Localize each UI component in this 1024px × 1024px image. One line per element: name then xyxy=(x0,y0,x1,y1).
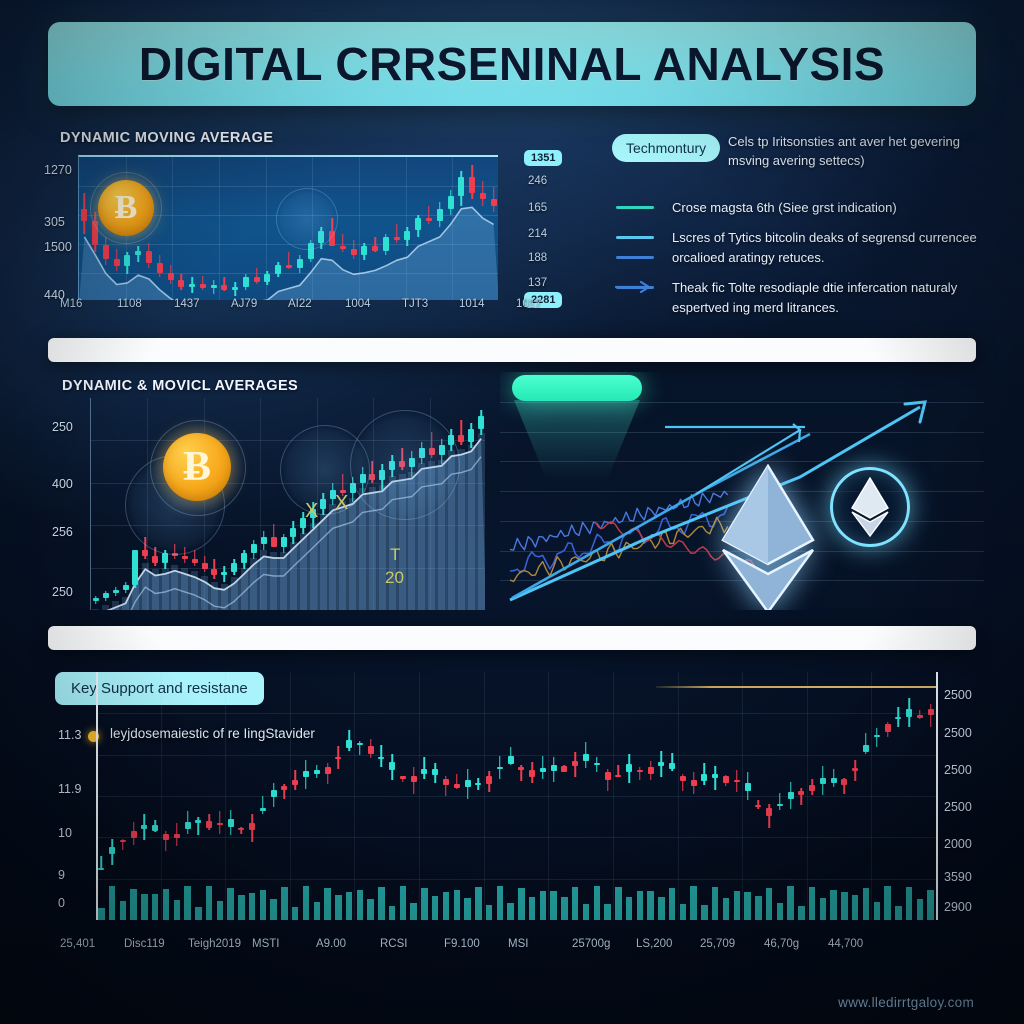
volume-bar xyxy=(410,903,416,920)
candle-body xyxy=(163,834,169,839)
candle-body xyxy=(243,277,249,286)
panel4-right-label: 2500 xyxy=(944,688,972,702)
volume-bar xyxy=(615,887,621,920)
candlestick xyxy=(480,157,486,300)
candle-body xyxy=(131,831,137,838)
panel2-annotation: X xyxy=(335,492,348,515)
candle-body xyxy=(437,209,443,221)
panel4-right-label: 2500 xyxy=(944,763,972,777)
gridline-h xyxy=(91,568,485,569)
panel4-x-label: F9.100 xyxy=(444,938,480,950)
legend-headline: Cels tp Iritsonsties ant aver het geveri… xyxy=(728,132,984,170)
candlestick xyxy=(448,398,454,610)
candle-body xyxy=(841,779,847,786)
candlestick xyxy=(478,398,484,610)
candlestick xyxy=(404,157,410,300)
candle-body xyxy=(820,778,826,784)
candlestick xyxy=(231,398,237,610)
candlestick xyxy=(238,672,244,920)
volume-bar xyxy=(335,895,341,920)
volume-bar xyxy=(367,899,373,920)
panel4-x-label: Teigh2019 xyxy=(188,938,241,950)
volume-bar xyxy=(874,902,880,920)
volume-bar xyxy=(637,891,643,920)
panel4-x-label: MSTI xyxy=(252,938,279,950)
volume-bar xyxy=(109,886,115,920)
candle-body xyxy=(723,776,729,783)
legend-arrow-icon xyxy=(614,280,658,294)
candlestick xyxy=(691,672,697,920)
candle-body xyxy=(368,746,374,754)
volume-bar xyxy=(550,891,556,920)
gridline-v xyxy=(742,672,743,920)
candlestick xyxy=(475,672,481,920)
gridline-v xyxy=(678,672,679,920)
candlestick xyxy=(852,672,858,920)
volume-bar xyxy=(787,886,793,920)
candlestick xyxy=(98,672,104,920)
candle-body xyxy=(141,825,147,829)
candle-body xyxy=(443,779,449,786)
candle-body xyxy=(325,767,331,774)
candle-body xyxy=(669,763,675,770)
right-axis-line xyxy=(936,672,938,920)
panel1-right-label: 137 xyxy=(528,277,547,289)
volume-bar xyxy=(830,890,836,920)
gridline-v xyxy=(359,157,360,300)
candle-body xyxy=(874,735,880,737)
gridline-v xyxy=(225,672,226,920)
candle-body xyxy=(885,724,891,732)
candlestick xyxy=(755,672,761,920)
candle-body xyxy=(480,193,486,199)
volume-bar xyxy=(454,890,460,920)
panel2-title: DYNAMIC & MOVICL AVERAGES xyxy=(62,378,298,394)
candlestick xyxy=(917,672,923,920)
volume-bar xyxy=(270,899,276,920)
candle-body xyxy=(185,822,191,829)
volume-bar xyxy=(755,896,761,920)
gridline-v xyxy=(807,672,808,920)
bitcoin-coin-icon: Ƀ xyxy=(98,180,154,236)
candle-body xyxy=(195,820,201,823)
candle-body xyxy=(271,790,277,797)
candlestick xyxy=(281,672,287,920)
candlestick xyxy=(81,157,87,300)
panel4-x-label: 44,700 xyxy=(828,938,863,950)
panel4-y-label: 9 xyxy=(58,868,65,882)
candle-body xyxy=(478,416,484,429)
candlestick xyxy=(361,157,367,300)
candle-body xyxy=(831,778,837,783)
candlestick xyxy=(551,672,557,920)
panel4-right-label: 2000 xyxy=(944,837,972,851)
volume-bar xyxy=(895,906,901,920)
candle-body xyxy=(626,764,632,772)
candle-wick xyxy=(194,550,196,566)
candlestick xyxy=(185,672,191,920)
panel4-right-label: 2900 xyxy=(944,900,972,914)
panel1-right-label: 165 xyxy=(528,202,547,214)
candlestick xyxy=(264,157,270,300)
volume-bar xyxy=(734,891,740,920)
candle-wick xyxy=(428,206,430,225)
candle-body xyxy=(658,762,664,765)
volume-bar xyxy=(518,888,524,920)
candlestick xyxy=(561,672,567,920)
panel4-y-label: 0 xyxy=(58,896,65,910)
panel4-y-label: 11.9 xyxy=(58,782,81,796)
candlestick xyxy=(271,398,277,610)
candlestick xyxy=(281,398,287,610)
candlestick xyxy=(454,672,460,920)
candlestick xyxy=(885,672,891,920)
candle-body xyxy=(254,277,260,282)
candlestick xyxy=(357,672,363,920)
volume-bar xyxy=(227,888,233,920)
gridline-v xyxy=(354,672,355,920)
candlestick xyxy=(572,672,578,920)
candlestick xyxy=(831,672,837,920)
candlestick xyxy=(163,672,169,920)
candlestick xyxy=(458,398,464,610)
candlestick xyxy=(261,398,267,610)
gridline-v xyxy=(219,157,220,300)
candle-body xyxy=(766,808,772,816)
candle-body xyxy=(281,786,287,791)
volume-bar xyxy=(766,888,772,920)
candle-wick xyxy=(930,704,932,727)
volume-bar xyxy=(389,906,395,920)
volume-bar xyxy=(507,903,513,920)
candle-wick xyxy=(396,224,398,243)
candle-body xyxy=(264,274,270,282)
candlestick xyxy=(400,672,406,920)
panel4-x-label: Disc119 xyxy=(124,938,165,950)
candle-body xyxy=(415,218,421,230)
panel1-y-label: 305 xyxy=(44,215,65,229)
candlestick xyxy=(314,672,320,920)
volume-bar xyxy=(281,887,287,920)
candlestick xyxy=(389,672,395,920)
candlestick xyxy=(928,672,934,920)
candle-body xyxy=(103,245,109,259)
panel1-x-label: 1017 xyxy=(516,298,542,310)
panel2-y-label: 256 xyxy=(52,525,73,539)
volume-bar xyxy=(174,900,180,920)
candle-body xyxy=(468,429,474,442)
candle-body xyxy=(906,709,912,717)
panel1-x-label: AJ79 xyxy=(231,298,257,310)
candle-body xyxy=(852,768,858,771)
candle-body xyxy=(109,847,115,855)
candle-wick xyxy=(876,728,878,748)
volume-bar xyxy=(594,886,600,920)
candle-body xyxy=(124,255,130,266)
panel1-right-label: 246 xyxy=(528,175,547,187)
volume-bar xyxy=(324,888,330,920)
candle-body xyxy=(113,590,119,593)
candle-body xyxy=(238,828,244,830)
volume-bar xyxy=(141,894,147,920)
candlestick xyxy=(432,672,438,920)
volume-bar xyxy=(378,887,384,920)
candlestick xyxy=(228,672,234,920)
candle-body xyxy=(346,740,352,748)
candlestick xyxy=(141,672,147,920)
candle-body xyxy=(448,196,454,208)
volume-bar xyxy=(130,889,136,920)
candle-body xyxy=(491,199,497,205)
candlestick xyxy=(351,157,357,300)
volume-bar xyxy=(647,891,653,920)
candle-body xyxy=(351,249,357,255)
candle-body xyxy=(93,598,99,601)
candle-body xyxy=(454,784,460,787)
candlestick xyxy=(109,672,115,920)
candle-body xyxy=(303,771,309,777)
candle-body xyxy=(648,767,654,774)
volume-bar xyxy=(184,886,190,920)
gridline-v xyxy=(871,672,872,920)
bitcoin-coin-icon: Ƀ xyxy=(163,433,231,501)
candle-body xyxy=(777,804,783,806)
candle-body xyxy=(788,792,794,799)
candle-body xyxy=(734,780,740,782)
candle-body xyxy=(389,762,395,769)
volume-bar xyxy=(400,886,406,920)
candle-body xyxy=(809,785,815,791)
candle-body xyxy=(551,765,557,771)
candlestick xyxy=(243,157,249,300)
volume-bar xyxy=(217,901,223,920)
volume-bar xyxy=(583,904,589,920)
volume-bar xyxy=(120,901,126,920)
candlestick xyxy=(152,672,158,920)
candlestick xyxy=(325,672,331,920)
candle-body xyxy=(232,287,238,290)
panel2-y-label: 250 xyxy=(52,585,73,599)
volume-bar xyxy=(421,888,427,920)
candlestick xyxy=(217,672,223,920)
candlestick xyxy=(469,157,475,300)
candle-body xyxy=(701,774,707,780)
volume-bar xyxy=(852,895,858,920)
candlestick xyxy=(211,157,217,300)
candlestick xyxy=(340,157,346,300)
candlestick xyxy=(411,672,417,920)
volume-bar xyxy=(486,905,492,920)
candle-body xyxy=(146,251,152,263)
candle-body xyxy=(394,237,400,240)
candlestick xyxy=(766,672,772,920)
candle-body xyxy=(361,246,367,255)
candlestick xyxy=(701,672,707,920)
candle-body xyxy=(572,761,578,765)
y-axis-line xyxy=(96,672,98,920)
candlestick xyxy=(378,672,384,920)
panel4-y-label: 10 xyxy=(58,826,72,840)
candlestick xyxy=(103,398,109,610)
candle-body xyxy=(583,754,589,761)
volume-bar xyxy=(723,898,729,920)
candlestick xyxy=(906,672,912,920)
candle-body xyxy=(286,265,292,268)
candle-body xyxy=(411,776,417,782)
legend-marker-1b xyxy=(616,256,654,259)
poster-title-bar: DIGITAL CRRSENINAL ANALYSIS xyxy=(48,22,976,106)
gridline-v xyxy=(419,672,420,920)
panel1-x-label: 1004 xyxy=(345,298,371,310)
volume-bar xyxy=(346,892,352,920)
candle-body xyxy=(680,776,686,781)
panel1-x-label: AI22 xyxy=(288,298,312,310)
candle-body xyxy=(290,528,296,538)
candle-body xyxy=(178,280,184,286)
volume-bar xyxy=(626,897,632,920)
candle-body xyxy=(189,284,195,287)
candlestick xyxy=(637,672,643,920)
candlestick xyxy=(241,398,247,610)
panel1-title: DYNAMIC MOVING AVERAGE xyxy=(60,130,273,146)
candlestick xyxy=(372,157,378,300)
candlestick xyxy=(93,398,99,610)
legend-item-text: Theak fic Tolte resodiaple dtie infercat… xyxy=(672,278,984,318)
candlestick xyxy=(508,672,514,920)
highlight-halo xyxy=(350,410,460,520)
candlestick xyxy=(292,672,298,920)
candle-body xyxy=(518,767,524,770)
volume-bar xyxy=(260,890,266,920)
volume-bar xyxy=(841,892,847,920)
candle-body xyxy=(594,763,600,766)
candlestick xyxy=(458,157,464,300)
volume-bar xyxy=(432,896,438,920)
panel1-x-label: 1108 xyxy=(117,298,142,310)
ethereum-logo-icon xyxy=(718,464,818,610)
candle-body xyxy=(465,780,471,787)
volume-bar xyxy=(604,904,610,920)
candle-body xyxy=(103,593,109,598)
candle-body xyxy=(561,766,567,772)
panel1-y-label: 1270 xyxy=(44,163,72,177)
candlestick xyxy=(189,157,195,300)
candlestick xyxy=(712,672,718,920)
resistance-line xyxy=(656,686,936,688)
candle-body xyxy=(132,550,138,585)
candle-body xyxy=(152,825,158,831)
candle-body xyxy=(275,265,281,274)
panel4-right-label: 2500 xyxy=(944,800,972,814)
candlestick xyxy=(437,157,443,300)
candlestick xyxy=(863,672,869,920)
gridline-v xyxy=(484,672,485,920)
candle-body xyxy=(249,823,255,831)
section-divider-1 xyxy=(48,338,976,362)
volume-bar xyxy=(540,891,546,920)
candle-body xyxy=(182,556,188,559)
candlestick xyxy=(594,672,600,920)
volume-bar xyxy=(712,887,718,920)
volume-bar xyxy=(820,898,826,920)
candle-body xyxy=(540,768,546,772)
panel3-ethereum-trend[interactable] xyxy=(500,372,984,610)
candlestick xyxy=(615,672,621,920)
panel2-annotation: 20 xyxy=(385,568,404,588)
candle-body xyxy=(917,715,923,718)
candle-body xyxy=(221,572,227,575)
candlestick xyxy=(465,672,471,920)
volume-bar xyxy=(292,907,298,920)
candle-body xyxy=(260,808,266,811)
candlestick xyxy=(874,672,880,920)
panel1-right-highlight: 1351 xyxy=(524,150,562,166)
legend-badge[interactable]: Techmontury xyxy=(612,134,720,162)
volume-bar xyxy=(497,886,503,920)
panel1-x-label: M16 xyxy=(60,298,82,310)
candle-body xyxy=(928,709,934,716)
volume-bar xyxy=(701,905,707,920)
candle-body xyxy=(297,259,303,268)
section-divider-2 xyxy=(48,626,976,650)
volume-bar xyxy=(744,892,750,920)
candlestick xyxy=(254,157,260,300)
candle-body xyxy=(152,556,158,562)
panel2-annotation: T xyxy=(390,545,400,565)
candle-body xyxy=(251,544,257,554)
candlestick xyxy=(583,672,589,920)
volume-bar xyxy=(884,886,890,920)
candlestick xyxy=(895,672,901,920)
volume-bar xyxy=(206,886,212,920)
volume-bar xyxy=(152,894,158,920)
panel4-right-label: 2500 xyxy=(944,726,972,740)
volume-bar xyxy=(917,899,923,920)
footer-url[interactable]: www.lledirrtgaloy.com xyxy=(838,995,974,1010)
candlestick xyxy=(260,672,266,920)
candlestick xyxy=(394,157,400,300)
panel4-y-label: 11.3 xyxy=(58,728,81,742)
panel4-candlestick-chart[interactable] xyxy=(96,672,936,920)
candlestick xyxy=(648,672,654,920)
candlestick xyxy=(120,672,126,920)
candle-body xyxy=(529,770,535,777)
page-title: DIGITAL CRRSENINAL ANALYSIS xyxy=(139,37,885,91)
volume-bar xyxy=(195,907,201,920)
candle-body xyxy=(241,553,247,563)
candle-body xyxy=(745,783,751,791)
candle-body xyxy=(432,769,438,774)
candle-body xyxy=(798,791,804,795)
candle-body xyxy=(508,756,514,764)
candlestick xyxy=(605,672,611,920)
candlestick xyxy=(777,672,783,920)
candlestick xyxy=(335,672,341,920)
candlestick xyxy=(421,672,427,920)
gridline-v xyxy=(548,672,549,920)
candle-body xyxy=(458,177,464,196)
candlestick xyxy=(200,157,206,300)
candle-wick xyxy=(779,793,781,810)
candlestick xyxy=(178,157,184,300)
candlestick xyxy=(157,157,163,300)
legend-marker-0 xyxy=(616,206,654,209)
candlestick xyxy=(232,157,238,300)
candlestick xyxy=(841,672,847,920)
legend-marker-1 xyxy=(616,236,654,239)
candlestick xyxy=(249,672,255,920)
candle-body xyxy=(863,745,869,753)
